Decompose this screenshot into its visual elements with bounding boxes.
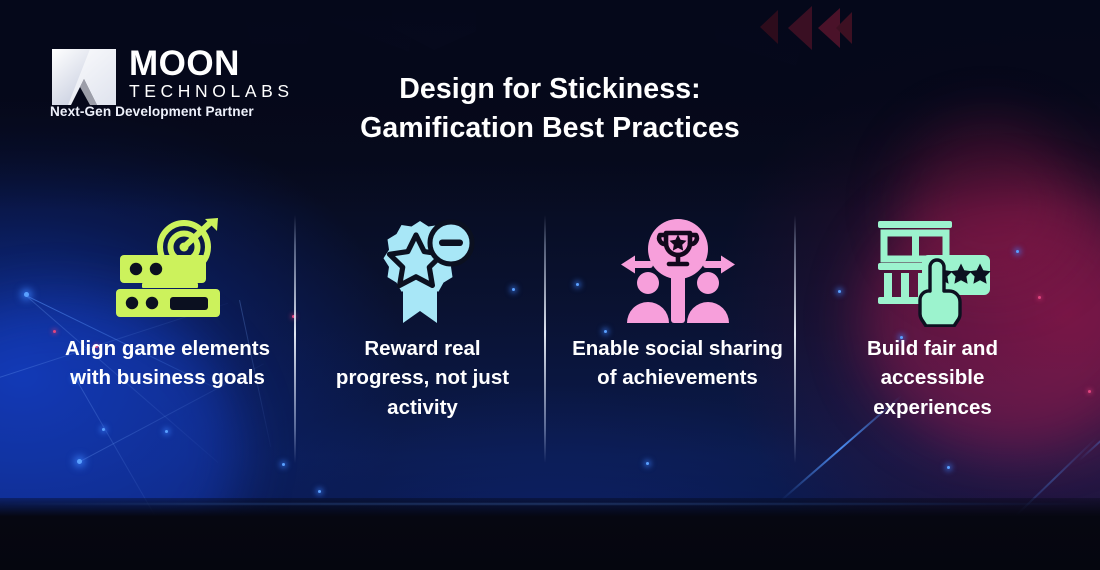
practice-caption: Build fair and accessible experiences — [825, 334, 1040, 422]
icon-slot — [371, 212, 475, 330]
server-target-icon — [110, 217, 226, 325]
icon-slot — [874, 212, 992, 330]
trophy-social-share-icon — [619, 217, 737, 325]
decorative-triangle — [836, 12, 852, 44]
practice-caption: Enable social sharing of achievements — [570, 334, 785, 393]
icon-slot — [110, 212, 226, 330]
star-dot — [947, 466, 950, 469]
practice-column-2: Reward real progress, not just activity — [295, 212, 550, 464]
practice-caption: Reward real progress, not just activity — [315, 334, 530, 422]
star-dot — [1088, 390, 1091, 393]
infographic-canvas: MOON TECHNOLABS Next-Gen Development Par… — [0, 0, 1100, 570]
bottom-band — [0, 498, 1100, 570]
practice-column-3: Enable social sharing of achievements — [550, 212, 805, 464]
practice-column-1: Align game elements with business goals — [40, 212, 295, 464]
title-line-1: Design for Stickiness: — [0, 70, 1100, 109]
building-star-rating-hand-icon — [874, 215, 992, 327]
star-dot — [318, 490, 321, 493]
icon-slot — [619, 212, 737, 330]
constellation-node — [24, 292, 29, 297]
badge-star-minus-icon — [371, 217, 475, 325]
title-line-2: Gamification Best Practices — [0, 109, 1100, 148]
practice-columns: Align game elements with business goals … — [40, 212, 1060, 464]
practice-caption: Align game elements with business goals — [60, 334, 275, 393]
decorative-triangle — [760, 10, 778, 44]
practice-column-4: Build fair and accessible experiences — [805, 212, 1060, 464]
page-title: Design for Stickiness: Gamification Best… — [0, 70, 1100, 148]
decorative-triangle — [788, 6, 812, 50]
